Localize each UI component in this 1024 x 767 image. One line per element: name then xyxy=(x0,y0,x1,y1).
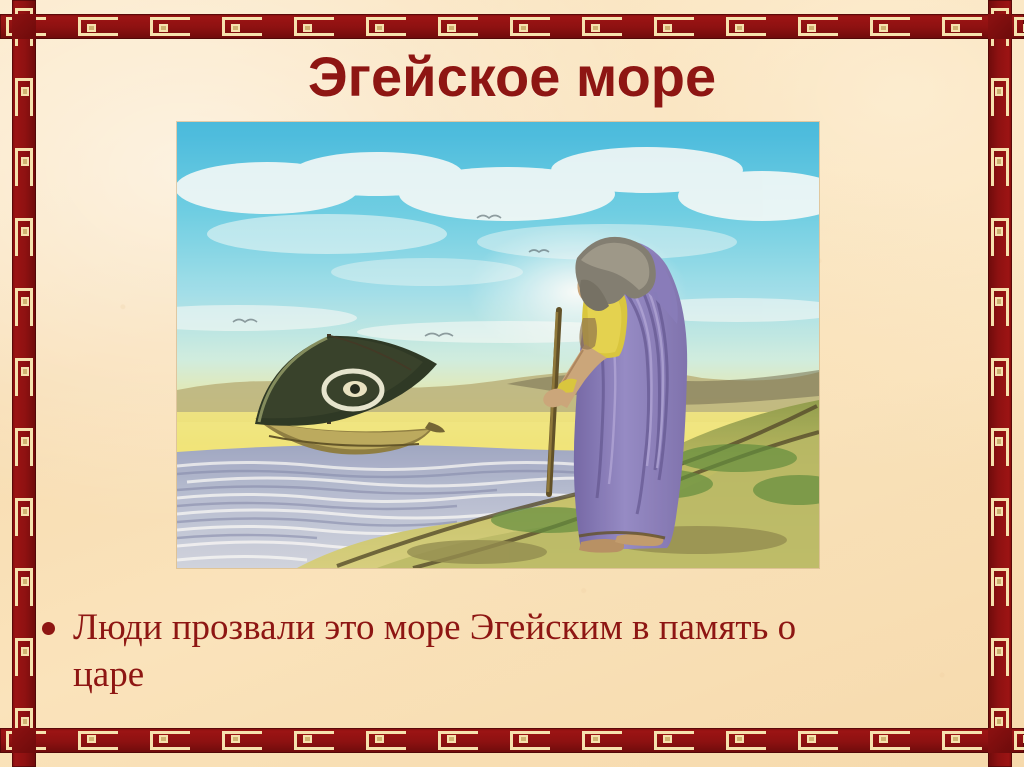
illustration-aegeus-and-ship xyxy=(177,122,819,568)
border-band-top xyxy=(0,14,1024,39)
bullet-marker-icon xyxy=(42,622,55,635)
slide: Эгейское море xyxy=(0,0,1024,767)
slide-illustration xyxy=(177,122,819,568)
border-band-left xyxy=(12,0,36,767)
bullet-list: Люди прозвали это море Эгейским в память… xyxy=(42,604,922,699)
bullet-item-text: Люди прозвали это море Эгейским в память… xyxy=(73,604,863,699)
border-band-bottom xyxy=(0,728,1024,753)
border-band-right xyxy=(988,0,1012,767)
slide-title: Эгейское море xyxy=(0,48,1024,107)
